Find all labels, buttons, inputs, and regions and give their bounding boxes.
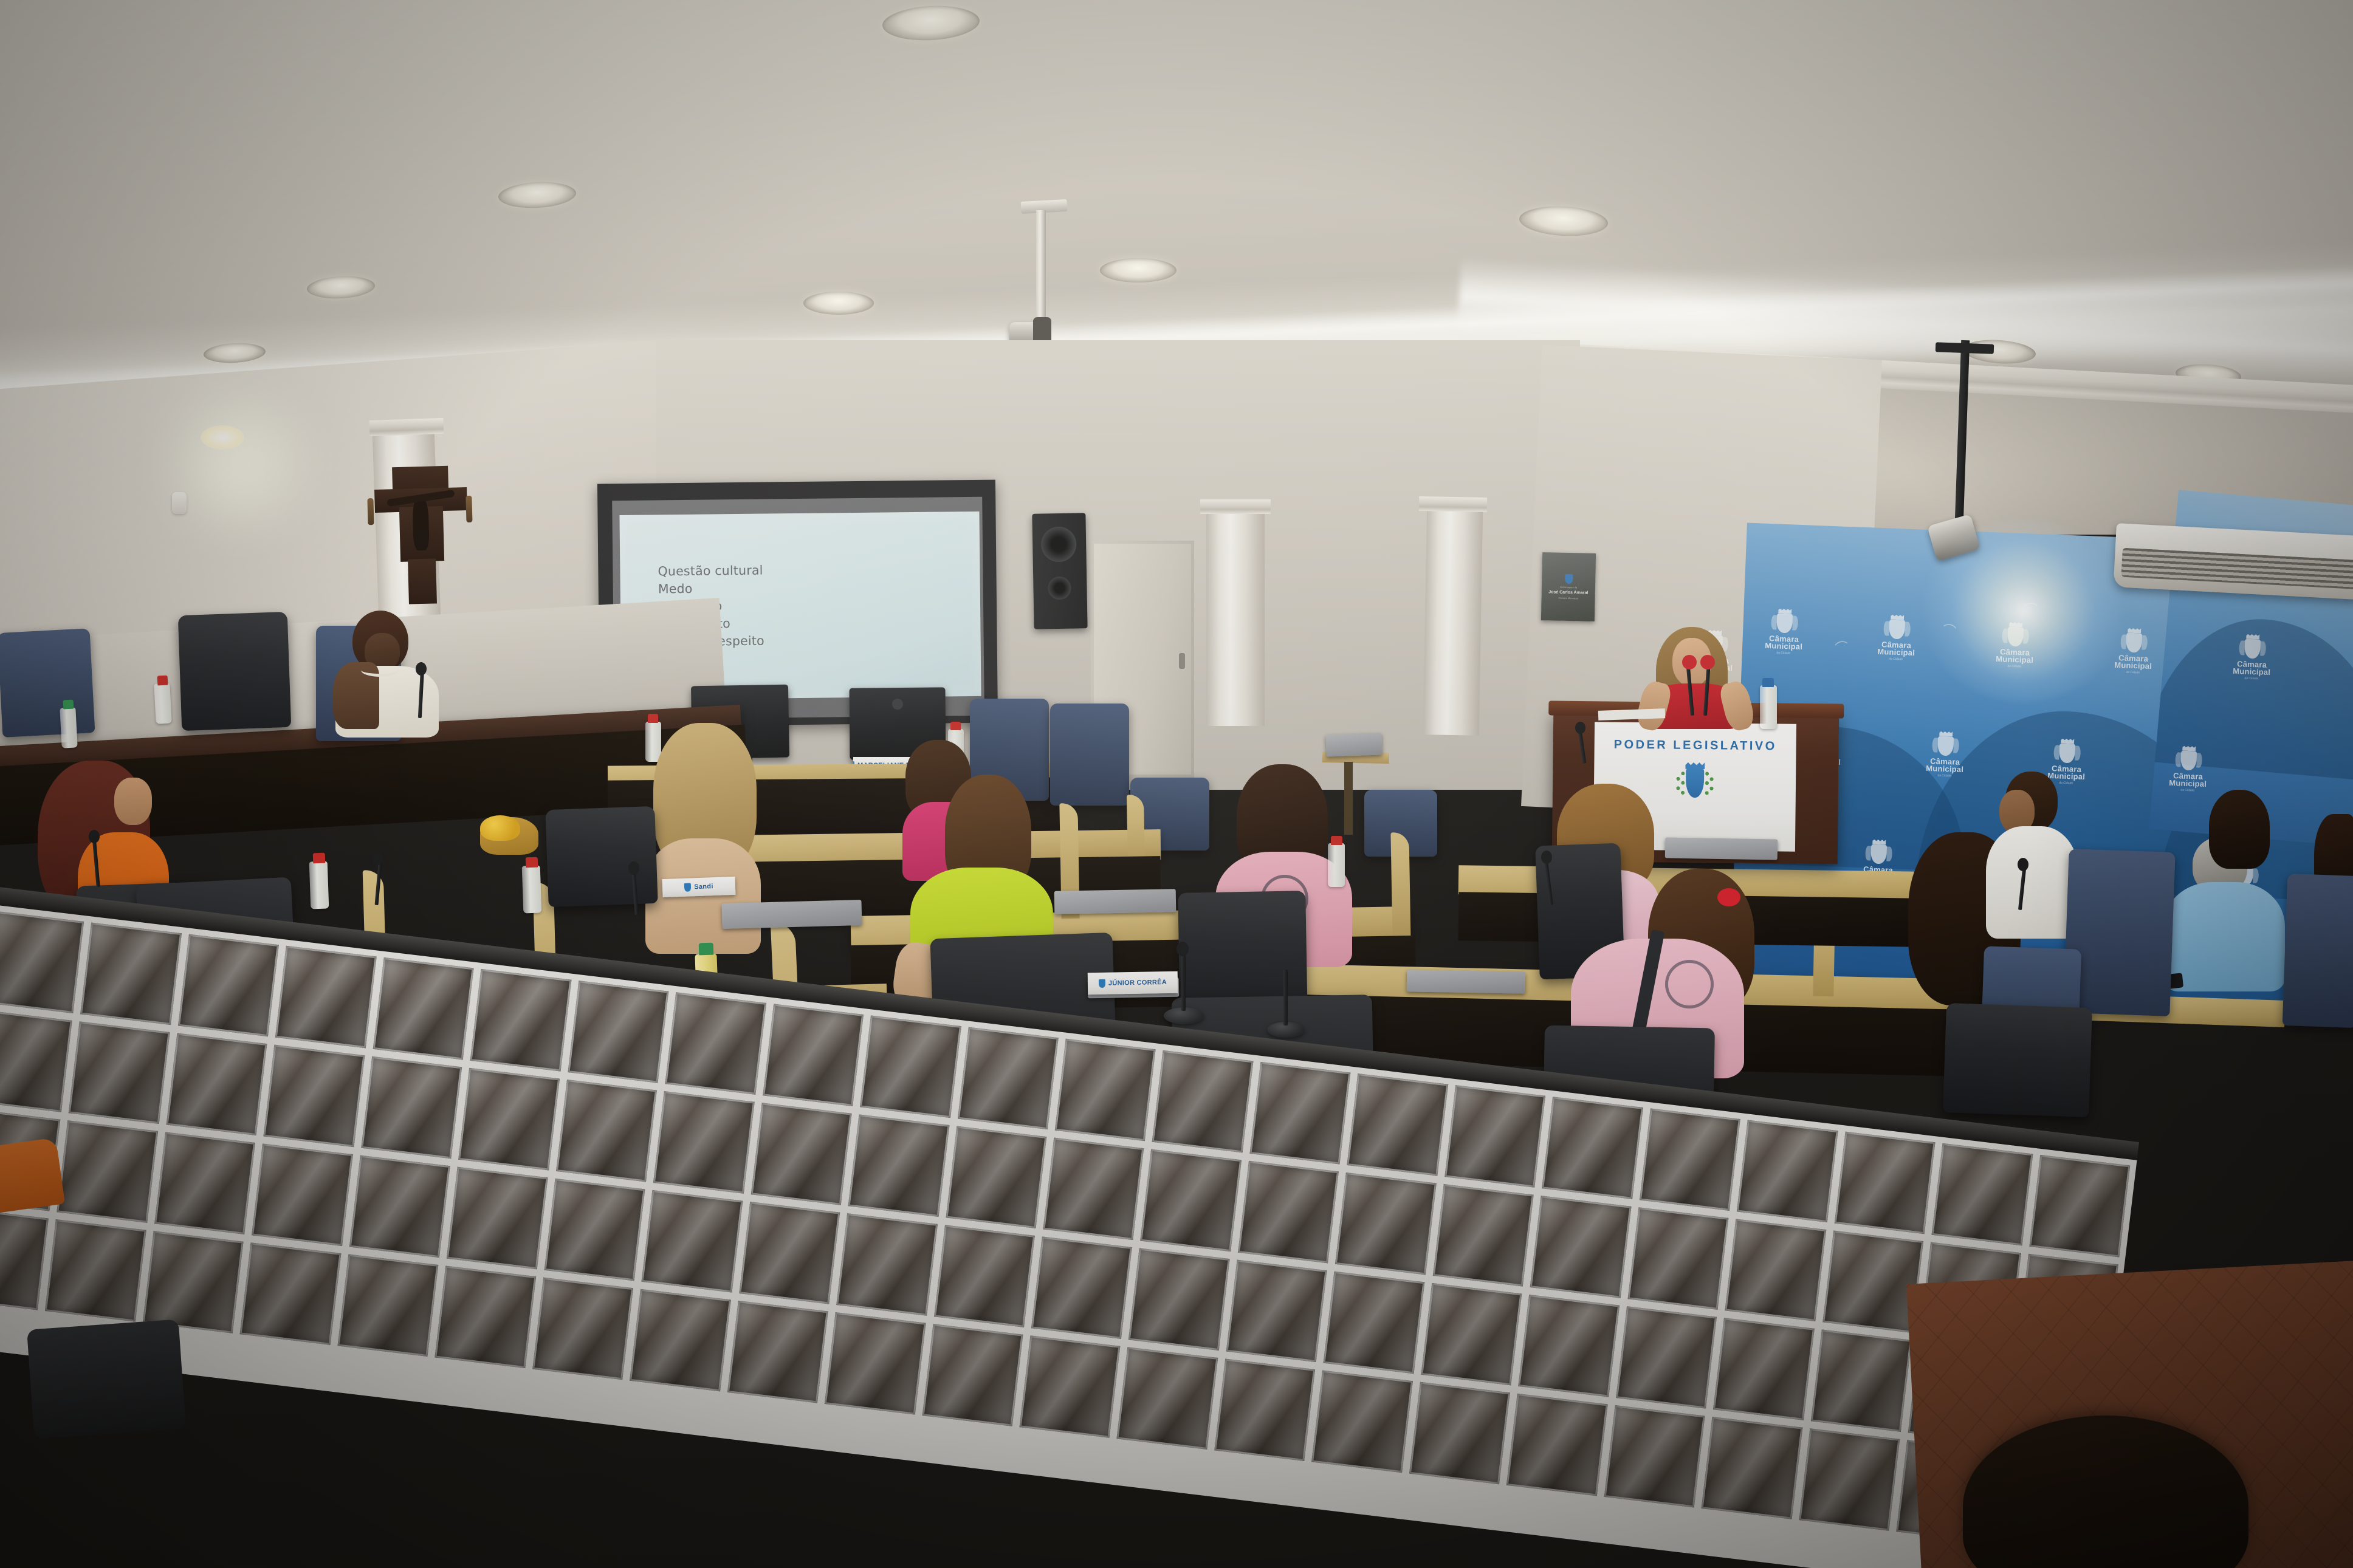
municipal-crest-icon — [1677, 762, 1713, 806]
microphone-head-icon — [1575, 722, 1585, 734]
microphone-stem — [1283, 970, 1288, 1025]
glass-block — [458, 1068, 559, 1171]
glass-block — [946, 1126, 1046, 1228]
glass-block — [665, 992, 766, 1095]
plaque-subtitle-top: Homenagem da — [1560, 586, 1578, 589]
bottle-cap — [1762, 678, 1774, 687]
glass-block — [1043, 1138, 1144, 1241]
glass-block — [264, 1045, 365, 1148]
glass-block — [544, 1179, 645, 1281]
glass-block — [1444, 1085, 1545, 1188]
spotlight-glow — [1920, 519, 2127, 702]
bench-divider — [1390, 832, 1410, 942]
glass-block — [1409, 1382, 1510, 1485]
glass-block — [532, 1278, 633, 1380]
glass-block — [1604, 1405, 1705, 1508]
glass-block — [447, 1167, 548, 1270]
attendee-hair — [2209, 790, 2270, 869]
tshirt-logo-icon — [1665, 960, 1714, 1008]
glass-block — [1324, 1272, 1424, 1374]
glass-block — [934, 1225, 1035, 1327]
glass-block — [1249, 1062, 1350, 1165]
glass-block — [1542, 1097, 1643, 1199]
glass-block — [166, 1033, 267, 1135]
glass-block — [275, 946, 376, 1049]
attendee-face — [114, 778, 152, 825]
column-capital-left — [369, 418, 444, 436]
microphone-head-icon — [2018, 858, 2028, 871]
glass-block — [836, 1213, 937, 1316]
wall-light-icon — [201, 425, 244, 450]
glass-block — [860, 1015, 961, 1118]
glass-block — [1737, 1120, 1838, 1222]
microphone-head-icon — [372, 852, 383, 865]
glass-block — [1421, 1283, 1522, 1386]
hair-scrunchie-icon — [1717, 888, 1740, 906]
glass-block — [435, 1266, 536, 1369]
camara-logo: CâmaraMunicipalda Cidade — [1926, 736, 1965, 778]
sanitizer-bottle[interactable] — [154, 683, 171, 724]
flower-decoration — [480, 815, 520, 841]
glass-block — [763, 1004, 864, 1106]
dais-chair[interactable] — [0, 628, 95, 738]
glass-block — [1932, 1143, 2033, 1246]
laptop[interactable] — [1325, 733, 1382, 756]
glass-block — [0, 1010, 72, 1112]
nameplate: Sandi — [662, 877, 736, 897]
bottle-cap — [648, 714, 658, 723]
glass-block — [1335, 1173, 1436, 1275]
microphone-head-icon — [416, 662, 427, 676]
glass-block — [470, 969, 571, 1072]
crucifix-tassel-left — [367, 498, 374, 525]
microphone-stem — [1181, 948, 1186, 1011]
nameplate-text: JÚNIOR CORRÊA — [1108, 979, 1167, 987]
laptop[interactable] — [1665, 837, 1778, 860]
side-table-leg — [1344, 762, 1353, 835]
bottle-cap — [699, 943, 714, 956]
glass-block — [1627, 1207, 1728, 1310]
glass-block — [1713, 1318, 1814, 1420]
bag-object — [0, 1137, 65, 1214]
camara-logo: CâmaraMunicipalda Cidade — [2233, 638, 2272, 681]
camara-logo: CâmaraMunicipalda Cidade — [1765, 613, 1804, 656]
glass-block — [1019, 1335, 1120, 1438]
plaque-name: José Carlos Amaral — [1548, 590, 1588, 595]
dais-chair[interactable] — [178, 612, 292, 731]
crucifix-icon — [363, 460, 479, 609]
visitor-chair[interactable] — [2283, 874, 2353, 1028]
laptop[interactable] — [721, 900, 862, 929]
downlight — [803, 292, 874, 315]
memorial-plaque: Homenagem da José Carlos Amaral Câmara M… — [1541, 552, 1596, 621]
glass-block — [630, 1289, 730, 1392]
glass-block — [1640, 1108, 1740, 1211]
visitor-chair[interactable] — [1050, 704, 1129, 806]
glass-block — [2029, 1155, 2130, 1258]
glass-block — [727, 1301, 828, 1403]
wall-switch-plate[interactable] — [172, 492, 187, 514]
glass-block — [1141, 1149, 1242, 1252]
camara-logo: CâmaraMunicipalda Cidade — [2169, 750, 2208, 793]
glass-block — [57, 1120, 158, 1223]
bottle-cap — [950, 722, 961, 730]
column-center — [1206, 507, 1265, 726]
column-right — [1423, 504, 1483, 736]
microphone-windscreen-icon — [1682, 655, 1697, 669]
glass-block — [1055, 1039, 1156, 1142]
office-chair[interactable] — [545, 806, 658, 907]
glass-block — [1530, 1196, 1631, 1298]
glass-block — [45, 1219, 146, 1322]
attendee-torso — [1986, 826, 2078, 939]
downlight — [1100, 258, 1176, 282]
sanitizer-bottle[interactable] — [309, 861, 329, 909]
glass-block — [1433, 1184, 1534, 1287]
dais-member-necklace — [361, 663, 399, 677]
glass-block — [1810, 1329, 1911, 1432]
glass-block — [361, 1056, 462, 1159]
glass-block — [1311, 1371, 1412, 1473]
glass-block — [922, 1324, 1023, 1426]
glass-block — [1128, 1248, 1229, 1351]
glass-block — [337, 1254, 438, 1357]
glass-block — [1702, 1417, 1802, 1519]
bottle-cap — [157, 676, 168, 686]
glass-block — [1226, 1260, 1327, 1363]
glass-block — [1506, 1394, 1607, 1496]
glass-block — [349, 1155, 450, 1258]
glass-block — [653, 1091, 754, 1194]
podium-sign-title: PODER LEGISLATIVO — [1595, 738, 1796, 753]
glass-block — [1152, 1050, 1253, 1153]
monitor-logo-icon — [892, 699, 903, 710]
glass-block — [178, 934, 279, 1037]
glass-block — [1031, 1236, 1132, 1339]
glass-block — [69, 1021, 170, 1124]
light-rail-bracket — [1936, 342, 1994, 354]
glass-block — [154, 1132, 255, 1234]
glass-block — [0, 911, 84, 1013]
glass-block — [825, 1312, 926, 1415]
glass-block — [1214, 1358, 1315, 1461]
nameplate: JÚNIOR CORRÊA — [1088, 971, 1178, 995]
microphone-head-icon — [628, 861, 639, 875]
bottle-cap — [1331, 836, 1342, 845]
glass-block — [848, 1114, 949, 1217]
bottle-cap — [313, 853, 326, 864]
sanitizer-bottle[interactable] — [60, 707, 77, 748]
nameplate-crest-icon — [684, 883, 691, 891]
microphone-head-icon — [89, 830, 100, 843]
microphone-windscreen-icon — [1700, 655, 1715, 669]
glass-block — [751, 1103, 851, 1205]
visitor-chair[interactable] — [2063, 849, 2175, 1016]
crucifix-tassel-right — [465, 496, 472, 522]
glass-block — [568, 981, 668, 1083]
slide-line: Medo — [658, 580, 764, 598]
glass-block — [642, 1190, 743, 1293]
glass-block — [1725, 1219, 1826, 1321]
column-capital-center — [1200, 499, 1271, 514]
glass-block — [1616, 1306, 1717, 1409]
glass-block — [1117, 1347, 1218, 1450]
glass-block — [1834, 1132, 1935, 1234]
slide-line: Questão cultural — [658, 562, 763, 581]
microphone-head-icon — [1541, 851, 1552, 864]
door-handle-icon[interactable] — [1179, 653, 1185, 669]
plenary-chamber-photo: Homenagem da José Carlos Amaral Câmara M… — [0, 0, 2353, 1568]
camara-logo: CâmaraMunicipalda Cidade — [1877, 619, 1916, 662]
plaque-subtitle-bottom: Câmara Municipal — [1558, 597, 1578, 600]
office-chair[interactable] — [1943, 1003, 2092, 1117]
sanitizer-bottle[interactable] — [1328, 843, 1345, 887]
camera-drop-pole — [1036, 210, 1046, 329]
nameplate-text: Sandi — [694, 883, 713, 891]
camara-logo: CâmaraMunicipalda Cidade — [2047, 743, 2086, 786]
glass-block — [240, 1242, 341, 1345]
glass-block — [1518, 1295, 1619, 1397]
water-bottle[interactable] — [1760, 685, 1777, 729]
air-conditioner-icon — [2114, 523, 2353, 600]
glass-block — [1347, 1073, 1448, 1176]
glass-block — [957, 1027, 1058, 1130]
glass-block — [81, 923, 182, 1025]
glass-block — [373, 957, 474, 1060]
glass-block — [556, 1080, 657, 1182]
glass-block — [252, 1143, 352, 1246]
plaque-crest-icon — [1565, 574, 1573, 584]
bird-icon: ︵ — [1833, 632, 1848, 647]
bottle-cap — [63, 700, 74, 710]
glass-block — [143, 1231, 244, 1333]
waste-bin — [27, 1319, 186, 1439]
microphone-head-icon — [1176, 942, 1189, 956]
nameplate-crest-icon — [1099, 979, 1105, 988]
glass-block — [1238, 1161, 1339, 1264]
glass-block — [1799, 1428, 1900, 1531]
laptop[interactable] — [1407, 970, 1526, 993]
column-capital-right — [1419, 496, 1487, 512]
bottle-cap — [526, 857, 538, 868]
laptop[interactable] — [1054, 889, 1176, 914]
sanitizer-bottle[interactable] — [522, 866, 542, 914]
glass-block — [739, 1202, 840, 1304]
glass-block — [0, 1208, 49, 1310]
wall-speaker-icon — [1032, 513, 1087, 629]
